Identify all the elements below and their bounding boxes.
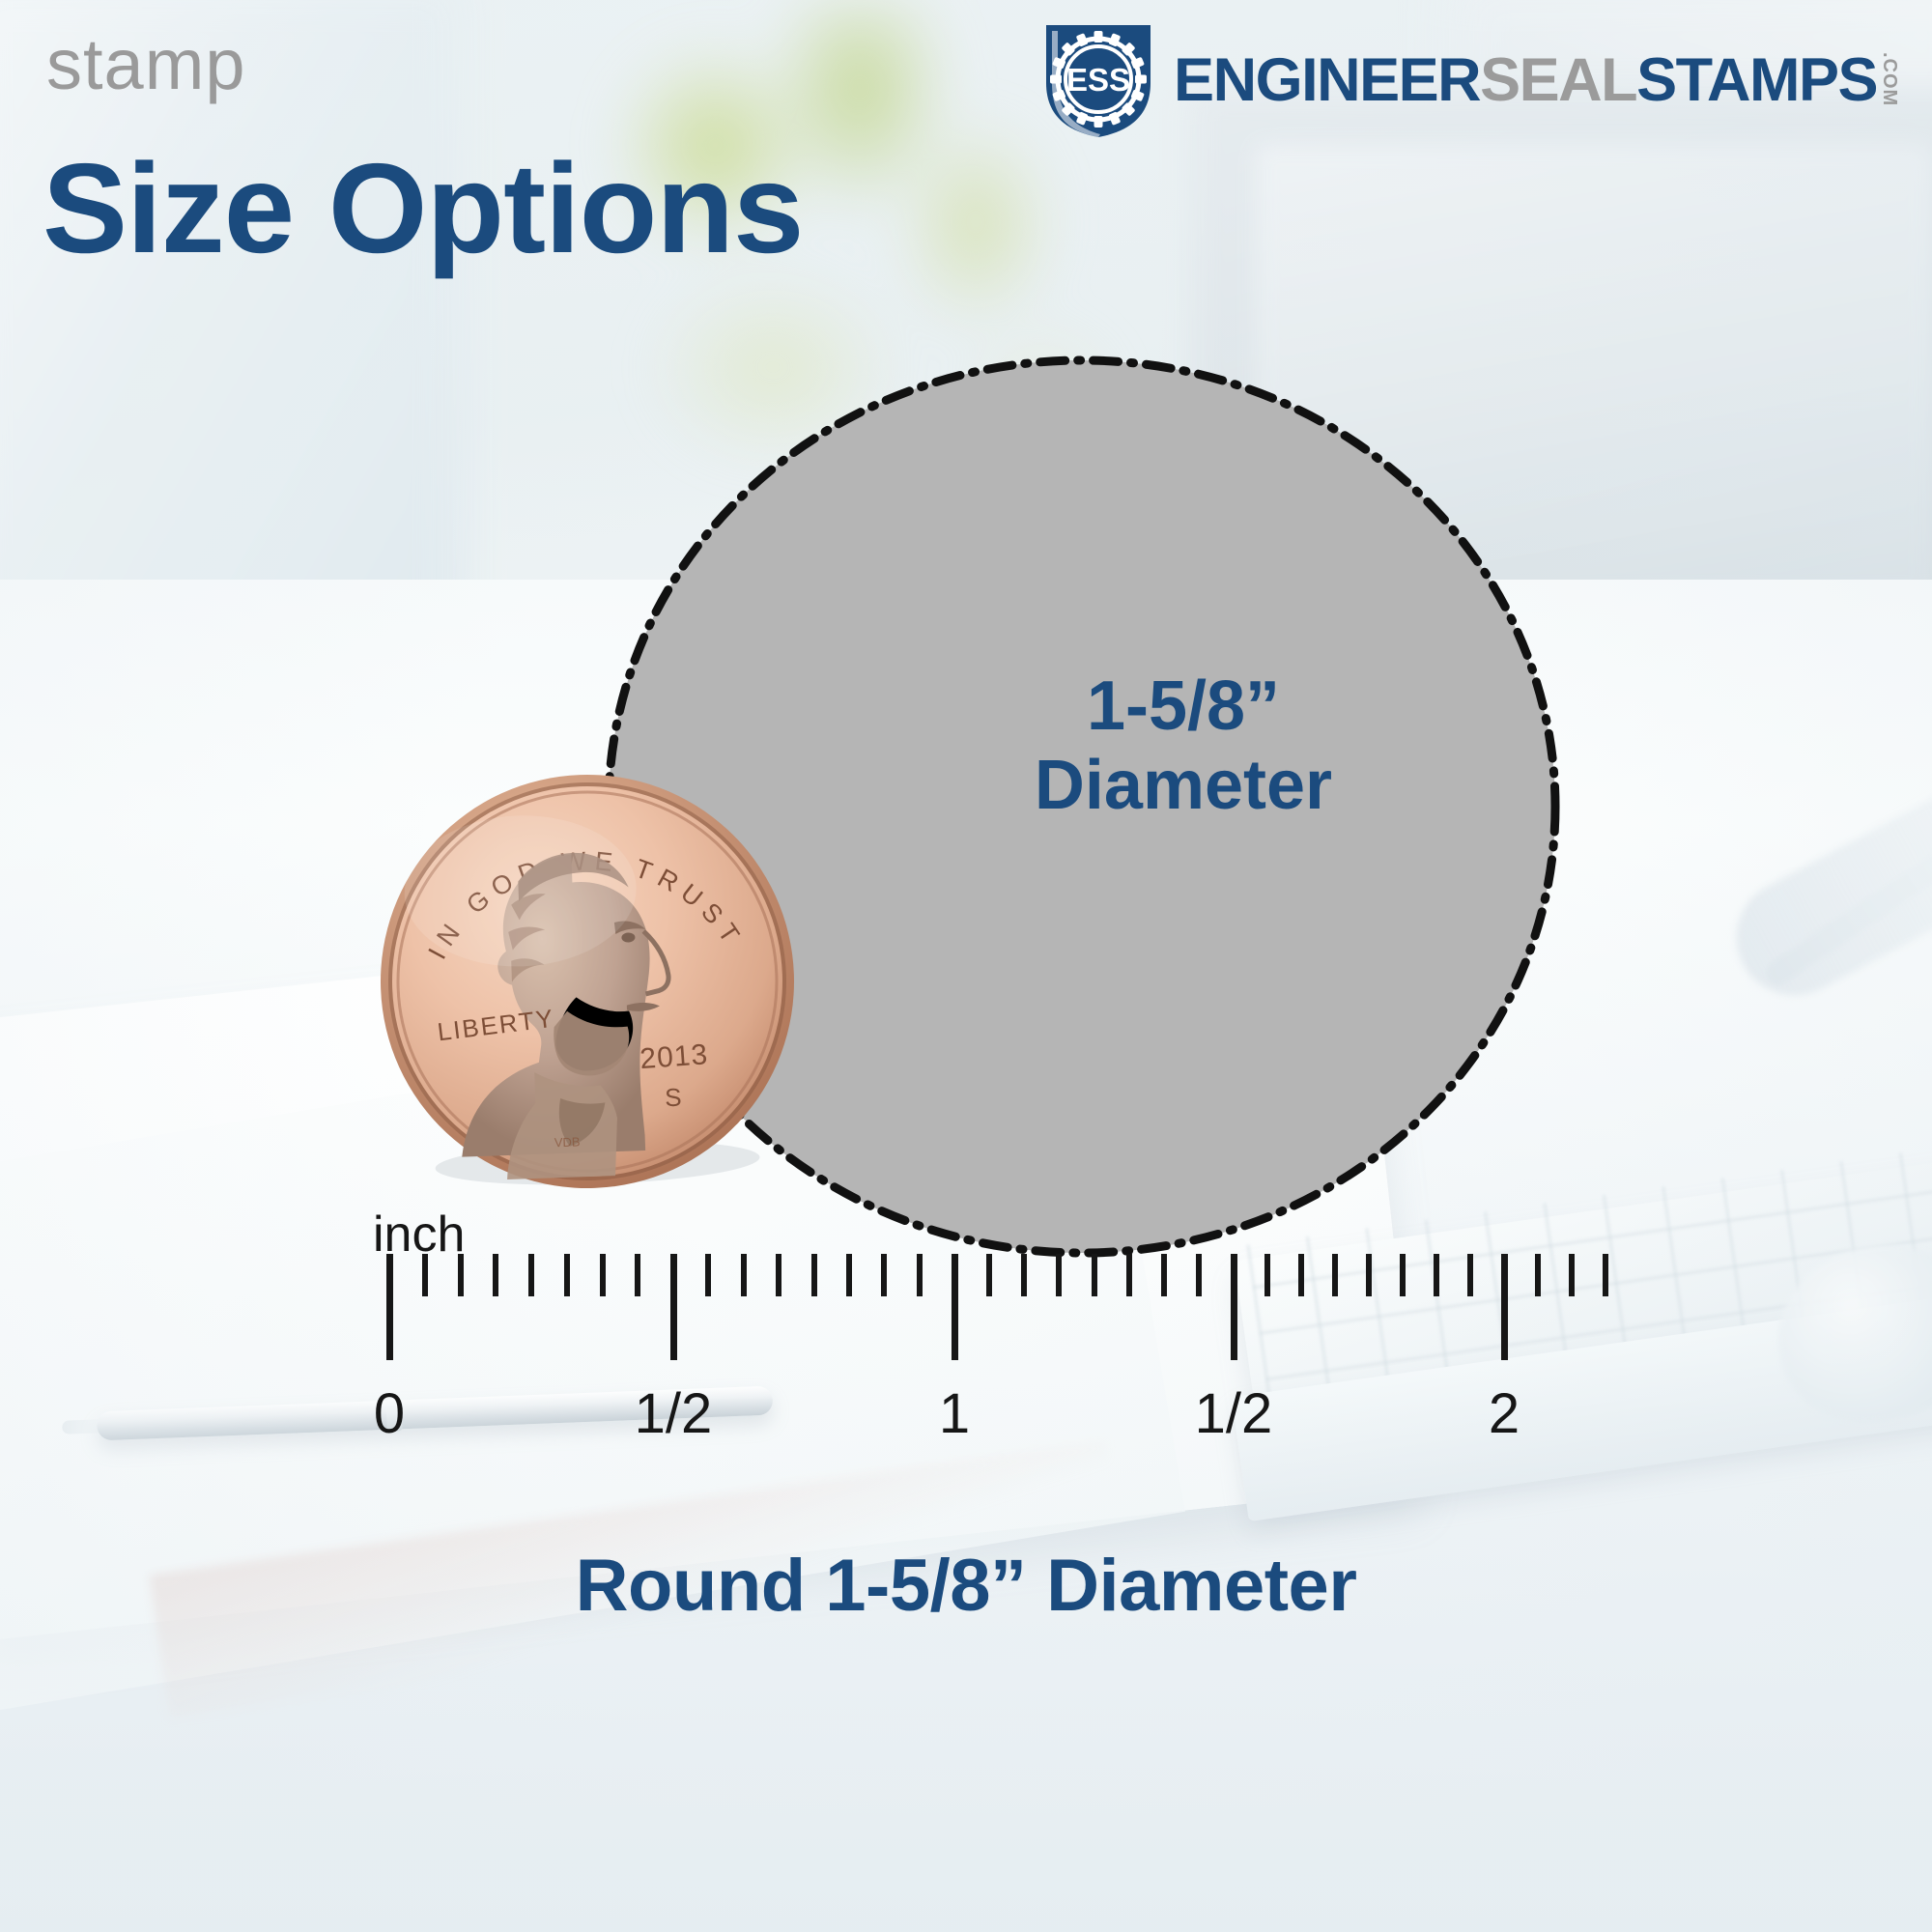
ruler-tick-minor xyxy=(1467,1254,1473,1296)
ruler-tick-major xyxy=(386,1254,393,1360)
ruler-tick-major xyxy=(1501,1254,1508,1360)
ruler-tick-minor xyxy=(1126,1254,1132,1296)
ruler-tick-minor xyxy=(811,1254,817,1296)
ruler-tick-minor xyxy=(1400,1254,1406,1296)
ruler-tick-major xyxy=(1231,1254,1237,1360)
page-title: Size Options xyxy=(43,145,803,272)
brand-word-seal: SEAL xyxy=(1480,50,1636,111)
ruler-tick-major xyxy=(952,1254,958,1360)
brand-tld: .COM xyxy=(1880,52,1899,106)
ruler-tick-minor xyxy=(1366,1254,1372,1296)
ruler-tick-minor xyxy=(1434,1254,1439,1296)
brand-word-engineer: ENGINEER xyxy=(1174,50,1480,111)
ruler-tick-minor xyxy=(1569,1254,1575,1296)
ruler-tick-minor xyxy=(986,1254,992,1296)
eyebrow-label: stamp xyxy=(46,29,246,100)
brand-wordmark: ENGINEER SEAL STAMPS .COM xyxy=(1174,50,1899,111)
size-options-graphic: stamp Size Options xyxy=(0,0,1932,1932)
ruler-tick-minor xyxy=(600,1254,606,1296)
ruler-tick-minor xyxy=(422,1254,428,1296)
penny-coin: IN GOD WE TRUST xyxy=(372,766,804,1198)
ruler-tick-minor xyxy=(635,1254,640,1296)
coin-year-text: 2013 xyxy=(639,1038,709,1075)
ruler-tick-minor xyxy=(458,1254,464,1296)
ess-badge-text: ESS xyxy=(1066,62,1130,98)
ruler-tick-minor xyxy=(917,1254,923,1296)
ruler-tick-minor xyxy=(528,1254,534,1296)
ruler-tick-minor xyxy=(881,1254,887,1296)
ruler-tick-minor xyxy=(564,1254,570,1296)
coin-mint-mark-text: S xyxy=(665,1083,682,1113)
ruler-tick-minor xyxy=(1298,1254,1304,1296)
ruler-tick-minor xyxy=(846,1254,852,1296)
ruler-tick-minor xyxy=(1603,1254,1608,1296)
ruler-label: 1 xyxy=(939,1381,970,1446)
brand-logo: ESS ENGINEER SEAL STAMPS .COM xyxy=(1037,17,1899,143)
ruler-tick-minor xyxy=(741,1254,747,1296)
ruler-tick-major xyxy=(670,1254,677,1360)
ruler-tick-minor xyxy=(1056,1254,1062,1296)
dimension-value: 1-5/8” xyxy=(807,667,1560,746)
coin-designer-initials: VDB xyxy=(554,1134,581,1150)
ruler-tick-minor xyxy=(705,1254,711,1296)
ruler-label: 0 xyxy=(374,1381,405,1446)
ruler-label: 1/2 xyxy=(635,1381,713,1446)
ruler-tick-minor xyxy=(776,1254,781,1296)
ruler-tick-minor xyxy=(1092,1254,1097,1296)
inch-ruler: inch 01/211/22 xyxy=(0,1236,1932,1546)
dimension-unit: Diameter xyxy=(807,746,1560,825)
ruler-tick-minor xyxy=(1021,1254,1027,1296)
ess-shield-icon: ESS xyxy=(1037,19,1160,141)
ruler-label: 2 xyxy=(1489,1381,1520,1446)
brand-word-stamps: STAMPS xyxy=(1636,50,1877,111)
ruler-tick-minor xyxy=(1332,1254,1338,1296)
size-caption: Round 1-5/8” Diameter xyxy=(0,1544,1932,1628)
ruler-tick-minor xyxy=(1196,1254,1202,1296)
ruler-tick-minor xyxy=(493,1254,498,1296)
ruler-tick-minor xyxy=(1535,1254,1541,1296)
ruler-tick-minor xyxy=(1161,1254,1167,1296)
ruler-tick-minor xyxy=(1264,1254,1270,1296)
ruler-label: 1/2 xyxy=(1195,1381,1273,1446)
